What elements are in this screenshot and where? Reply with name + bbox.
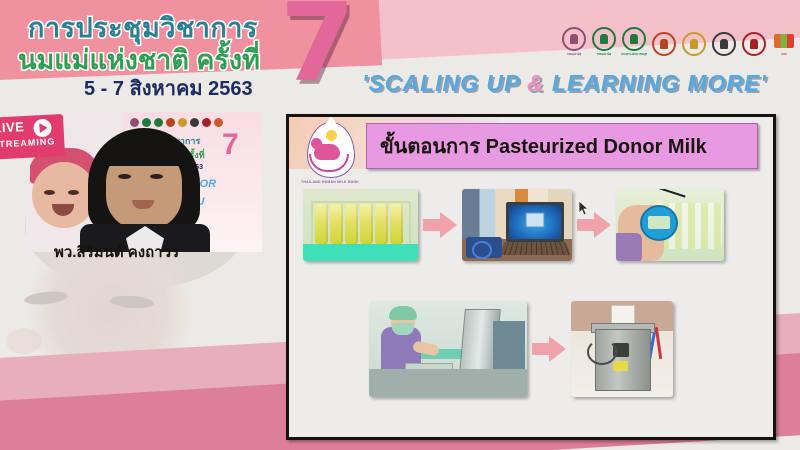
milk-drop-highlight: [326, 130, 337, 141]
process-row-1: [303, 189, 759, 261]
gold-pagoda-logo: [682, 24, 706, 56]
presenter-fringe: [102, 138, 186, 166]
milk-bottle: [375, 204, 388, 244]
process-arrow-3: [532, 336, 566, 362]
screen-window: [526, 212, 545, 227]
baby-head-icon: [311, 138, 322, 149]
surgical-cap-icon: [389, 306, 417, 320]
logo-caption: กรมอนามัย: [597, 52, 612, 56]
poster-logo-7: [202, 118, 211, 127]
poster-logo-8: [214, 118, 223, 127]
arrow-head: [440, 212, 457, 238]
streaming-label: STREAMING: [0, 136, 56, 149]
milk-bottle: [330, 204, 343, 244]
sss-thaihealth-icon: [774, 31, 794, 51]
milk-bottle: [390, 204, 403, 244]
step-4-photo-nurse-loading-pasteurizer: [369, 301, 527, 397]
red-crest-logo: [742, 24, 766, 56]
digital-thermometer-icon: [640, 205, 678, 241]
logo-caption: กรมอนามัย: [567, 52, 582, 56]
presenter-name: พว.สิริมนต์ คงถาวร: [54, 240, 179, 264]
poster-logo-6: [190, 118, 199, 127]
presenter-eye-right: [150, 174, 163, 179]
laptop-keyboard: [499, 242, 571, 255]
poster-logo-4: [166, 118, 175, 127]
grey-seal-logo: [712, 24, 736, 56]
conference-date: 5 - 7 สิงหาคม 2563: [84, 72, 253, 104]
sponsor-logo-row: กรมอนามัย กรมอนามัย กระทรวงสาธารณสุข สสส: [562, 24, 796, 56]
poster-logo-5: [178, 118, 187, 127]
slide-title-bar: ขั้นตอนการ Pasteurized Donor Milk: [366, 123, 758, 169]
mouse-cursor: [578, 200, 590, 216]
cable-coil: [472, 241, 492, 259]
photo-floor: [303, 244, 418, 261]
step-1-photo-bottles-on-rack: [303, 189, 418, 261]
slide-screenshot: 7 การประชุมวิชาการ นมแม่แห่งชาติ ครั้งที…: [0, 0, 800, 450]
counter-surface: [369, 369, 527, 397]
slide-content-panel: THAILAND HUMAN MILK BANK ขั้นตอนการ Past…: [286, 114, 776, 440]
step-2-photo-laptop-station: [462, 189, 572, 261]
step-3-photo-digital-thermometer: [616, 189, 724, 261]
logo-caption: กระทรวงสาธารณสุข: [621, 52, 647, 56]
logo-caption: THAILAND HUMAN MILK BANK: [299, 180, 361, 184]
live-streaming-badge: LIVE STREAMING: [0, 114, 65, 160]
power-cord: [587, 339, 617, 365]
poster-logo-2: [142, 118, 151, 127]
tagline-ampersand: &: [527, 70, 545, 96]
child-eye-left: [44, 190, 55, 195]
process-row-2: [369, 301, 759, 397]
green-circle-health-logo: กรมอนามัย: [592, 24, 616, 56]
slide-title: ขั้นตอนการ Pasteurized Donor Milk: [367, 130, 707, 162]
step-5-photo-pasteurizer-machine: [571, 301, 673, 397]
child-cheek: [6, 328, 42, 354]
header-banner: 7 การประชุมวิชาการ นมแม่แห่งชาติ ครั้งที…: [0, 0, 800, 104]
presenter-figure: [72, 128, 222, 252]
tagline-suffix: LEARNING MORE': [544, 70, 766, 96]
green-circle-health-icon: [592, 27, 616, 51]
ministry-emblem-icon: [562, 27, 586, 51]
green-medical-icon: [622, 27, 646, 51]
gold-pagoda-icon: [682, 32, 706, 56]
uniform-sleeve: [616, 233, 642, 261]
laptop-screen: [509, 205, 561, 239]
sss-thaihealth-logo: สสส: [772, 24, 796, 56]
tagline-prefix: 'SCALING UP: [362, 70, 527, 96]
machine-label: [613, 361, 628, 371]
human-milk-bank-logo: THAILAND HUMAN MILK BANK: [299, 120, 361, 184]
laptop-lid: [506, 202, 564, 242]
poster-logo-1: [130, 118, 139, 127]
conference-tagline: 'SCALING UP & LEARNING MORE': [362, 70, 767, 97]
logo-caption: สสส: [781, 52, 787, 56]
poster-edition-number: 7: [222, 130, 239, 160]
green-medical-logo: กระทรวงสาธารณสุข: [622, 24, 646, 56]
royal-crest-logo: [652, 24, 676, 56]
ministry-emblem-logo: กรมอนามัย: [562, 24, 586, 56]
poster-logo-3: [154, 118, 163, 127]
live-label: LIVE: [0, 119, 25, 136]
milk-bottle: [345, 204, 358, 244]
red-crest-icon: [742, 32, 766, 56]
conference-edition-number: 7: [280, 0, 355, 98]
poster-logo-row: [130, 118, 223, 127]
surgical-mask-icon: [392, 323, 414, 335]
arrow-head: [594, 212, 611, 238]
presenter-eye-left: [118, 174, 131, 179]
milk-bottle: [360, 204, 373, 244]
process-arrow-1: [423, 212, 457, 238]
arrow-head: [549, 336, 566, 362]
play-icon: [33, 119, 52, 138]
milk-bottle: [315, 204, 328, 244]
thermometer-display: [648, 216, 670, 229]
grey-seal-icon: [712, 32, 736, 56]
royal-crest-icon: [652, 32, 676, 56]
